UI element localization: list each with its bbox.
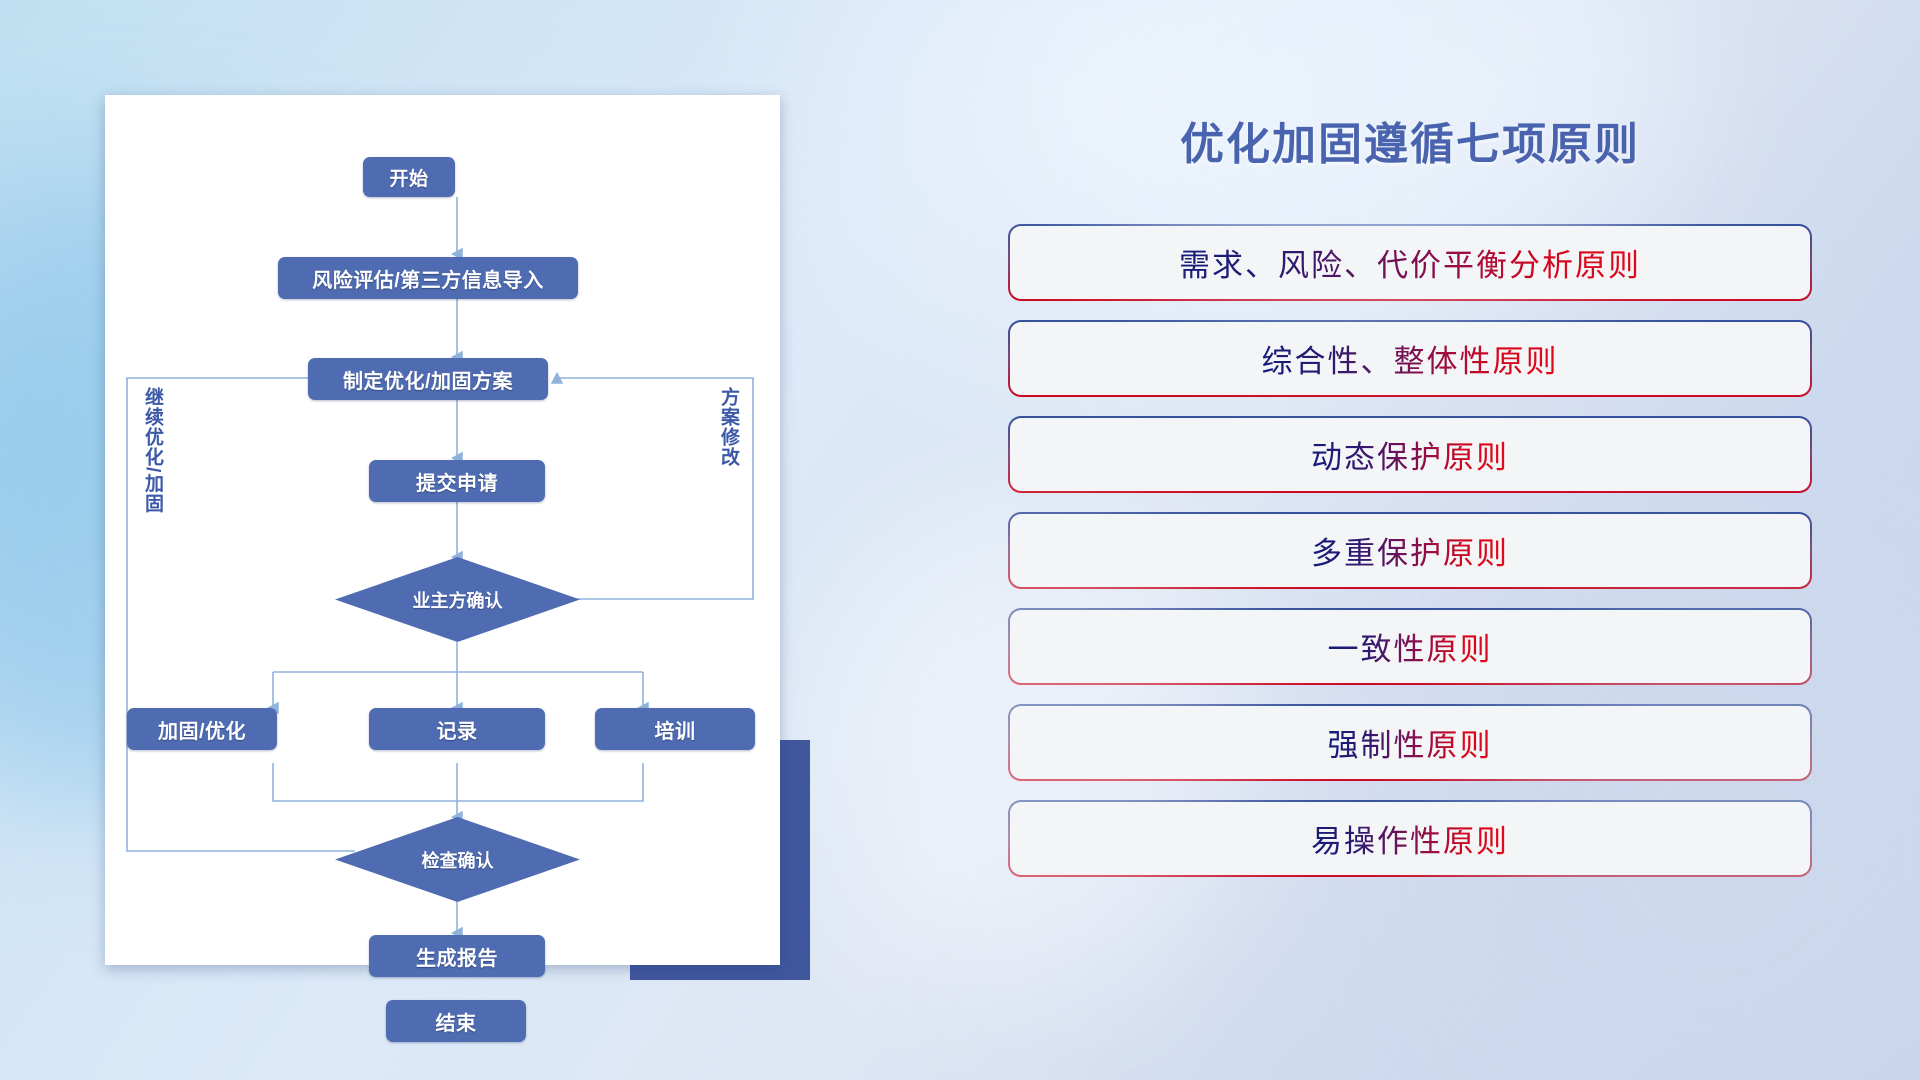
flow-node-label: 培训 bbox=[655, 715, 696, 744]
flow-node-generate-report[interactable]: 生成报告 bbox=[369, 935, 545, 977]
flow-node-label: 制定优化/加固方案 bbox=[343, 365, 513, 394]
principle-card-2[interactable]: 综合性、整体性原则 bbox=[1010, 322, 1810, 395]
principles-list: 需求、风险、代价平衡分析原则 综合性、整体性原则 动态保护原则 多重保护原则 一… bbox=[900, 226, 1920, 898]
principles-panel: 优化加固遵循七项原则 需求、风险、代价平衡分析原则 综合性、整体性原则 动态保护… bbox=[900, 0, 1920, 1080]
flowchart-stage: 开始 风险评估/第三方信息导入 制定优化/加固方案 提交申请 业主方确认 加固/… bbox=[105, 95, 780, 965]
principle-label: 易操作性原则 bbox=[1311, 816, 1509, 861]
principle-card-7[interactable]: 易操作性原则 bbox=[1010, 802, 1810, 875]
flow-node-label: 记录 bbox=[437, 715, 478, 744]
principle-card-4[interactable]: 多重保护原则 bbox=[1010, 514, 1810, 587]
flow-node-label: 业主方确认 bbox=[413, 587, 503, 613]
flow-node-reinforce-optimize[interactable]: 加固/优化 bbox=[127, 708, 277, 750]
flow-node-end[interactable]: 结束 bbox=[386, 1000, 526, 1042]
edge-label-plan-revision: 方案修改 bbox=[715, 387, 742, 467]
principle-card-1[interactable]: 需求、风险、代价平衡分析原则 bbox=[1010, 226, 1810, 299]
flow-node-label: 生成报告 bbox=[416, 942, 498, 971]
flow-node-label: 加固/优化 bbox=[158, 715, 246, 744]
principle-card-5[interactable]: 一致性原则 bbox=[1010, 610, 1810, 683]
principle-card-3[interactable]: 动态保护原则 bbox=[1010, 418, 1810, 491]
flow-node-submit-application[interactable]: 提交申请 bbox=[369, 460, 545, 502]
flow-node-record[interactable]: 记录 bbox=[369, 708, 545, 750]
flowchart-panel: 开始 风险评估/第三方信息导入 制定优化/加固方案 提交申请 业主方确认 加固/… bbox=[0, 0, 900, 1080]
principle-label: 多重保护原则 bbox=[1311, 528, 1509, 573]
flow-node-label: 风险评估/第三方信息导入 bbox=[312, 264, 544, 293]
flowchart-card: 开始 风险评估/第三方信息导入 制定优化/加固方案 提交申请 业主方确认 加固/… bbox=[105, 95, 780, 965]
flow-node-label: 提交申请 bbox=[416, 467, 498, 496]
principle-label: 综合性、整体性原则 bbox=[1262, 336, 1559, 381]
flow-node-label: 检查确认 bbox=[422, 847, 494, 873]
flow-node-training[interactable]: 培训 bbox=[595, 708, 755, 750]
principle-label: 一致性原则 bbox=[1328, 624, 1493, 669]
flow-node-plan[interactable]: 制定优化/加固方案 bbox=[308, 358, 548, 400]
flow-node-label: 结束 bbox=[436, 1007, 477, 1036]
principle-card-6[interactable]: 强制性原则 bbox=[1010, 706, 1810, 779]
principle-label: 强制性原则 bbox=[1328, 720, 1493, 765]
page-title: 优化加固遵循七项原则 bbox=[900, 108, 1920, 172]
flow-node-label: 开始 bbox=[389, 164, 428, 191]
edge-label-continue-optimization: 继续优化/加固 bbox=[139, 387, 166, 513]
principle-label: 需求、风险、代价平衡分析原则 bbox=[1179, 240, 1641, 285]
flow-node-start[interactable]: 开始 bbox=[363, 157, 455, 197]
flow-node-risk-assessment[interactable]: 风险评估/第三方信息导入 bbox=[278, 257, 578, 299]
principle-label: 动态保护原则 bbox=[1311, 432, 1509, 477]
